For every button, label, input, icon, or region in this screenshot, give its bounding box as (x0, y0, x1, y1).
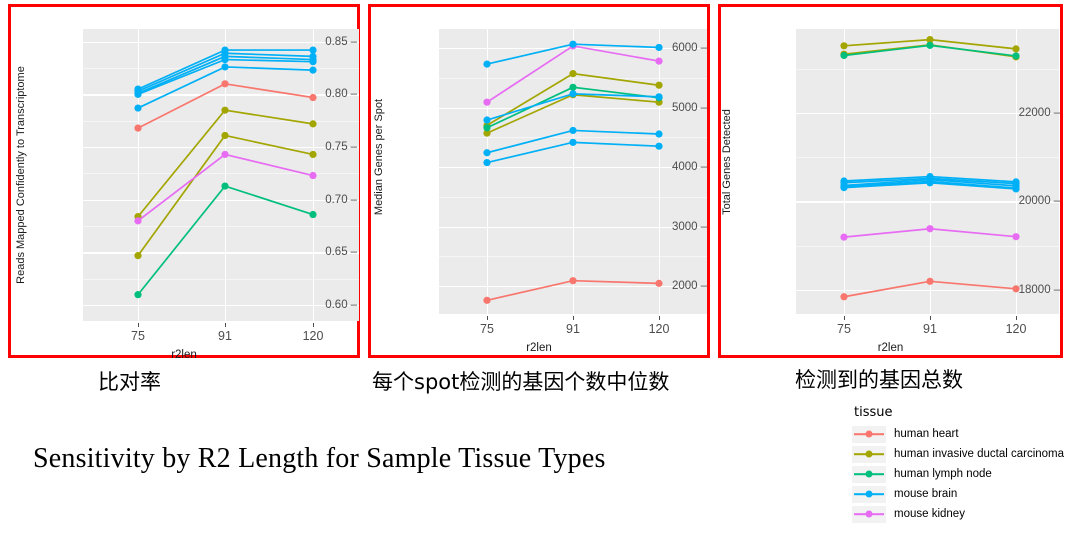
caption-panel2: 每个spot检测的基因个数中位数 (372, 366, 669, 396)
chart-frame-reads-mapped: 0.60–0.65–0.70–0.75–0.80–0.85–7591120r2l… (8, 4, 360, 358)
series-point (1012, 45, 1019, 52)
plot-reads-mapped: 0.60–0.65–0.70–0.75–0.80–0.85–7591120r2l… (11, 7, 357, 355)
legend-item-label: human lymph node (894, 468, 992, 480)
series-point (1012, 52, 1019, 59)
x-axis-tick-label: 120 (303, 329, 324, 343)
series-point (221, 56, 228, 63)
legend-item-label: human heart (894, 428, 959, 440)
series-point (309, 46, 316, 53)
series-point (221, 63, 228, 70)
series-point (569, 70, 576, 77)
series-point (926, 179, 933, 186)
page-title: Sensitivity by R2 Length for Sample Tiss… (33, 443, 606, 475)
series-point (926, 42, 933, 49)
series-point (569, 90, 576, 97)
series-point (134, 91, 141, 98)
x-axis-tick-label: 75 (480, 322, 494, 336)
series-point (1012, 233, 1019, 240)
series-point (926, 278, 933, 285)
series-point (840, 184, 847, 191)
series-point (655, 44, 662, 51)
series-point (1012, 185, 1019, 192)
chart-frame-total-genes: 18000–20000–22000–7591120r2lenTotal Gene… (718, 4, 1063, 358)
x-axis-tick-label: 120 (1006, 322, 1027, 336)
series-layer (83, 29, 359, 321)
series-layer (796, 29, 1059, 314)
series-point (569, 84, 576, 91)
series-point (569, 139, 576, 146)
series-line (138, 84, 313, 128)
series-point (569, 127, 576, 134)
y-axis-title: Median Genes per Spot (373, 99, 385, 215)
x-axis-tick-mark (313, 323, 314, 327)
x-axis-tick-mark (1016, 316, 1017, 320)
series-point (309, 172, 316, 179)
legend-title: tissue (854, 405, 1080, 420)
series-point (840, 42, 847, 49)
series-point (655, 93, 662, 100)
x-axis-tick-mark (659, 316, 660, 320)
series-line (138, 67, 313, 108)
legend: tissue human hearthuman invasive ductal … (852, 405, 1080, 524)
series-point (309, 94, 316, 101)
legend-key-icon (852, 486, 886, 503)
series-point (483, 159, 490, 166)
series-point (840, 293, 847, 300)
series-point (309, 58, 316, 65)
legend-key-icon (852, 466, 886, 483)
x-axis-tick-mark (930, 316, 931, 320)
chart-frame-median-genes: 2000–3000–4000–5000–6000–7591120r2lenMed… (368, 4, 710, 358)
legend-item-human-invasive-ductal-carcinoma[interactable]: human invasive ductal carcinoma (852, 444, 1080, 464)
series-line (138, 186, 313, 295)
series-point (926, 225, 933, 232)
series-point (309, 67, 316, 74)
legend-item-label: human invasive ductal carcinoma (894, 448, 1064, 460)
y-axis-title: Reads Mapped Confidently to Transcriptom… (15, 66, 27, 284)
x-axis-tick-label: 91 (218, 329, 232, 343)
series-point (483, 124, 490, 131)
series-point (221, 132, 228, 139)
series-point (655, 58, 662, 65)
x-axis-title: r2len (721, 342, 1060, 354)
series-point (134, 104, 141, 111)
series-point (221, 151, 228, 158)
plot-median-genes-per-spot: 2000–3000–4000–5000–6000–7591120r2lenMed… (371, 7, 707, 355)
series-point (221, 80, 228, 87)
x-axis-tick-label: 75 (131, 329, 145, 343)
series-point (655, 280, 662, 287)
legend-key-icon (852, 446, 886, 463)
x-axis-tick-label: 91 (923, 322, 937, 336)
legend-item-label: mouse brain (894, 488, 957, 500)
legend-key-icon (852, 426, 886, 443)
legend-item-human-heart[interactable]: human heart (852, 424, 1080, 444)
x-axis-tick-mark (844, 316, 845, 320)
series-point (483, 297, 490, 304)
x-axis-tick-label: 120 (649, 322, 670, 336)
series-point (655, 82, 662, 89)
series-point (483, 149, 490, 156)
series-point (309, 211, 316, 218)
x-axis-tick-label: 75 (837, 322, 851, 336)
series-point (221, 182, 228, 189)
series-point (134, 291, 141, 298)
x-axis-tick-mark (487, 316, 488, 320)
series-point (483, 116, 490, 123)
series-point (569, 41, 576, 48)
legend-item-label: mouse kidney (894, 508, 965, 520)
x-axis-tick-mark (225, 323, 226, 327)
series-point (309, 151, 316, 158)
x-axis-tick-label: 91 (566, 322, 580, 336)
y-axis-title: Total Genes Detected (721, 109, 733, 215)
series-point (134, 252, 141, 259)
caption-panel3: 检测到的基因总数 (795, 364, 963, 394)
series-point (483, 61, 490, 68)
series-point (840, 52, 847, 59)
series-point (221, 107, 228, 114)
legend-items: human hearthuman invasive ductal carcino… (852, 424, 1080, 524)
series-point (569, 277, 576, 284)
series-layer (439, 29, 707, 314)
x-axis-tick-mark (573, 316, 574, 320)
legend-item-mouse-kidney[interactable]: mouse kidney (852, 504, 1080, 524)
series-point (134, 217, 141, 224)
caption-panel1: 比对率 (98, 366, 161, 396)
series-point (134, 124, 141, 131)
legend-item-mouse-brain[interactable]: mouse brain (852, 484, 1080, 504)
x-axis-title: r2len (371, 342, 707, 354)
series-point (655, 130, 662, 137)
series-point (840, 234, 847, 241)
x-axis-tick-mark (138, 323, 139, 327)
series-point (655, 143, 662, 150)
series-point (483, 99, 490, 106)
x-axis-title: r2len (11, 349, 357, 361)
legend-key-icon (852, 506, 886, 523)
series-point (309, 120, 316, 127)
series-point (1012, 285, 1019, 292)
legend-item-human-lymph-node[interactable]: human lymph node (852, 464, 1080, 484)
plot-total-genes-detected: 18000–20000–22000–7591120r2lenTotal Gene… (721, 7, 1060, 355)
